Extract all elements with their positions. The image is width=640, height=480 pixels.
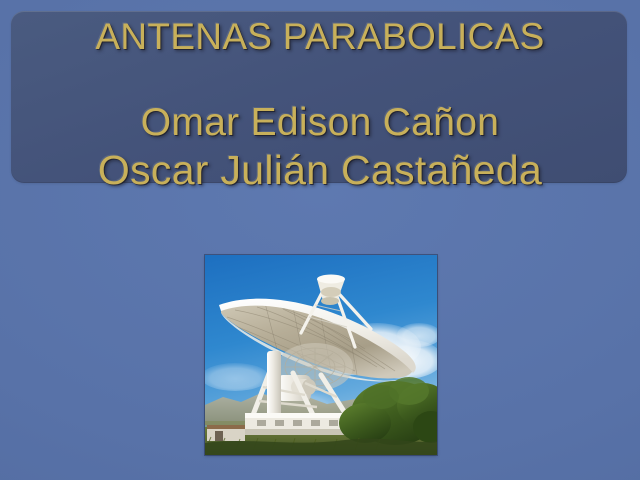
parabolic-antenna-illustration	[205, 255, 437, 455]
title-placeholder-box[interactable]	[11, 11, 627, 183]
parabolic-antenna-photo[interactable]	[205, 255, 437, 455]
presentation-slide: ANTENAS PARABOLICAS Omar Edison Cañon Os…	[0, 0, 640, 480]
